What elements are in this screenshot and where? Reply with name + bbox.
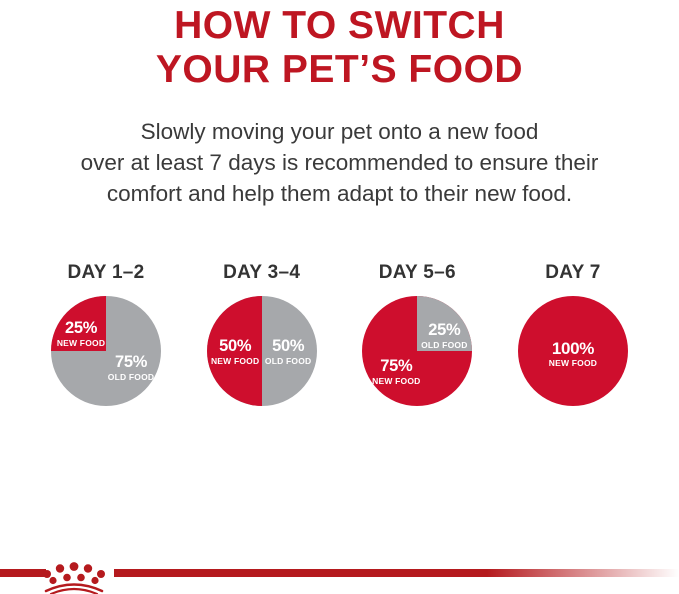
pie-svg-4	[518, 296, 628, 406]
pie-chart-day-5-6: DAY 5–6 25% OLD FOOD 75% NEW FOOD	[349, 262, 485, 452]
crown-icon-svg	[42, 561, 106, 594]
pie-svg-1	[51, 296, 161, 406]
pie-slice-new-food-4	[518, 296, 628, 406]
footer-rule-right	[114, 569, 679, 577]
intro-line-1: Slowly moving your pet onto a new food	[0, 116, 679, 147]
pie-chart-day-1-2: DAY 1–2 25% NEW FOOD 75% OLD FOOD	[38, 262, 174, 452]
title-line-2: YOUR PET’S FOOD	[0, 48, 679, 92]
footer-brand-bar	[0, 534, 679, 594]
pie-chart-day-7: DAY 7 100% NEW FOOD	[505, 262, 641, 452]
pie-svg-2	[207, 296, 317, 406]
footer-rule-left	[0, 569, 46, 577]
day-label-4: DAY 7	[545, 262, 600, 284]
intro-paragraph: Slowly moving your pet onto a new food o…	[0, 116, 679, 209]
pie-graphic-4: 100% NEW FOOD	[518, 296, 628, 406]
pie-chart-row: DAY 1–2 25% NEW FOOD 75% OLD FOOD DAY 3–…	[0, 262, 679, 452]
day-label-3: DAY 5–6	[379, 262, 456, 284]
pie-chart-day-3-4: DAY 3–4 50% NEW FOOD 50% OLD FOOD	[194, 262, 330, 452]
pie-graphic-1: 25% NEW FOOD 75% OLD FOOD	[51, 296, 161, 406]
day-label-2: DAY 3–4	[223, 262, 300, 284]
infographic-page: HOW TO SWITCH YOUR PET’S FOOD Slowly mov…	[0, 0, 679, 594]
pie-graphic-3: 25% OLD FOOD 75% NEW FOOD	[362, 296, 472, 406]
pie-slice-new-food-1	[51, 296, 106, 351]
pie-slice-old-food-3	[417, 296, 472, 351]
intro-line-2: over at least 7 days is recommended to e…	[0, 147, 679, 178]
title-line-1: HOW TO SWITCH	[0, 4, 679, 48]
pie-graphic-2: 50% NEW FOOD 50% OLD FOOD	[207, 296, 317, 406]
intro-line-3: comfort and help them adapt to their new…	[0, 178, 679, 209]
crown-icon	[42, 561, 106, 594]
page-title: HOW TO SWITCH YOUR PET’S FOOD	[0, 4, 679, 92]
pie-svg-3	[362, 296, 472, 406]
pie-slice-new-food-2	[207, 296, 262, 406]
day-label-1: DAY 1–2	[67, 262, 144, 284]
